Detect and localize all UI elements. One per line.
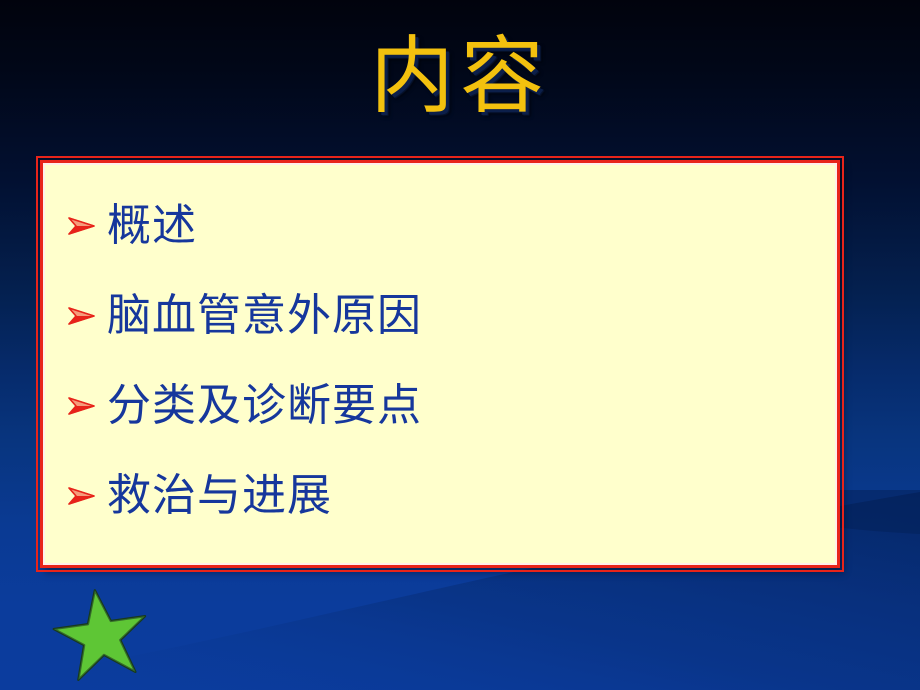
list-item-label: 救治与进展 xyxy=(107,474,332,518)
red-arrow-bullet-icon xyxy=(65,479,99,513)
bullet-list: 概述 脑血管意外原因 分类及诊断要点 xyxy=(43,163,837,541)
list-item[interactable]: 分类及诊断要点 xyxy=(43,361,837,451)
green-star-icon xyxy=(52,586,150,682)
list-item[interactable]: 救治与进展 xyxy=(43,451,837,541)
red-arrow-bullet-icon xyxy=(65,389,99,423)
content-panel: 概述 脑血管意外原因 分类及诊断要点 xyxy=(40,160,840,568)
list-item-label: 脑血管意外原因 xyxy=(107,294,422,338)
presentation-slide: 内容 概述 脑血管意外原因 xyxy=(0,0,920,690)
list-item[interactable]: 概述 xyxy=(43,181,837,271)
red-arrow-bullet-icon xyxy=(65,209,99,243)
page-title: 内容 xyxy=(370,32,550,120)
red-arrow-bullet-icon xyxy=(65,299,99,333)
slide-title-container: 内容 xyxy=(0,32,920,120)
list-item[interactable]: 脑血管意外原因 xyxy=(43,271,837,361)
list-item-label: 分类及诊断要点 xyxy=(107,384,422,428)
list-item-label: 概述 xyxy=(107,204,197,248)
